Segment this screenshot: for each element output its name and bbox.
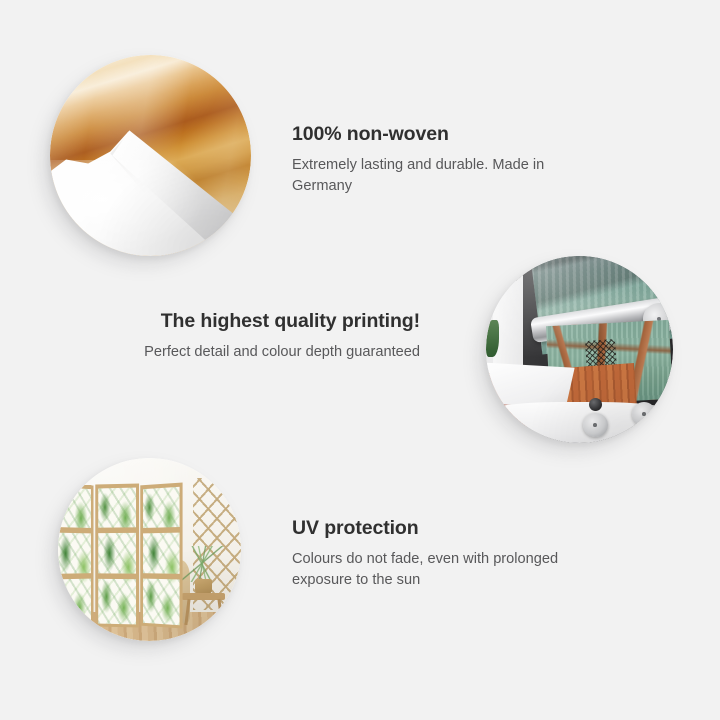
feature-text-non-woven: 100% non-woven Extremely lasting and dur…: [292, 122, 602, 197]
tropical-room-divider-photo: [58, 458, 241, 641]
folding-room-divider: [58, 484, 182, 627]
feature-body-uv-protection: Colours do not fade, even with prolonged…: [292, 549, 582, 590]
photo-frame-printing: [486, 256, 673, 443]
feature-text-uv-protection: UV protection Colours do not fade, even …: [292, 516, 582, 591]
photo-frame-uv-protection: [58, 458, 241, 641]
feature-title-uv-protection: UV protection: [292, 516, 582, 540]
photo-frame-non-woven: [50, 55, 251, 256]
feature-title-printing: The highest quality printing!: [118, 309, 420, 333]
feature-body-printing: Perfect detail and colour depth guarante…: [118, 342, 420, 363]
feature-title-non-woven: 100% non-woven: [292, 122, 602, 146]
divider-panel-1: [58, 482, 93, 628]
background-plant-leaf: [486, 320, 499, 357]
feature-body-non-woven: Extremely lasting and durable. Made in G…: [292, 155, 602, 196]
divider-panel-3: [140, 482, 182, 628]
large-format-printer-photo: [486, 256, 673, 443]
paper-highlight-sheen: [50, 160, 251, 256]
wallpaper-corner-peel-photo: [50, 55, 251, 256]
feature-infographic: 100% non-woven Extremely lasting and dur…: [0, 0, 720, 720]
divider-panel-2: [95, 483, 139, 627]
printer-adjustment-knob: [589, 398, 602, 411]
feature-text-printing: The highest quality printing! Perfect de…: [118, 309, 420, 363]
potted-palm-leaves: [181, 546, 229, 583]
printer-roller-wheel-left: [583, 413, 607, 437]
